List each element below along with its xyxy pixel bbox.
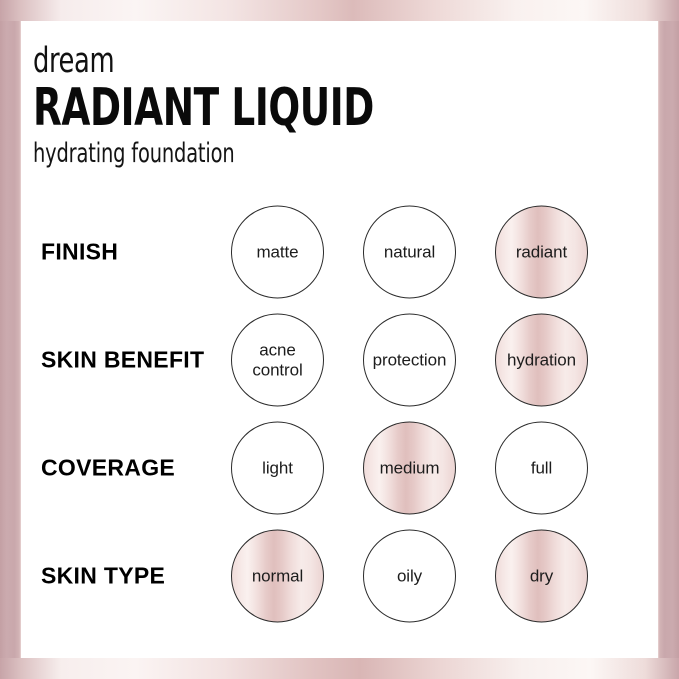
option-circle-selected[interactable]: dry bbox=[495, 530, 588, 623]
option-label: full bbox=[528, 458, 555, 478]
option-label: dry bbox=[527, 566, 556, 586]
option-circle[interactable]: matte bbox=[231, 206, 324, 299]
attribute-row-label: SKIN TYPE bbox=[41, 563, 165, 590]
frame-top-edge bbox=[0, 0, 679, 21]
product-subtitle: hydrating foundation bbox=[33, 140, 374, 167]
option-circle[interactable]: light bbox=[231, 422, 324, 515]
attribute-grid: FINISHmattenaturalradiantSKIN BENEFITacn… bbox=[21, 198, 658, 630]
option-label: protection bbox=[370, 350, 450, 370]
infographic-card: dream RADIANT LIQUID hydrating foundatio… bbox=[21, 21, 658, 658]
product-title-block: dream RADIANT LIQUID hydrating foundatio… bbox=[33, 44, 459, 167]
option-circle[interactable]: acne control bbox=[231, 314, 324, 407]
brand-line: dream bbox=[33, 44, 382, 79]
option-circle[interactable]: oily bbox=[363, 530, 456, 623]
option-circle[interactable]: full bbox=[495, 422, 588, 515]
attribute-row: SKIN TYPEnormaloilydry bbox=[21, 522, 658, 630]
attribute-option-group: normaloilydry bbox=[231, 530, 588, 623]
option-label: light bbox=[259, 458, 296, 478]
option-label: natural bbox=[381, 242, 438, 262]
option-label: matte bbox=[253, 242, 301, 262]
option-circle-selected[interactable]: radiant bbox=[495, 206, 588, 299]
attribute-row: SKIN BENEFITacne controlprotectionhydrat… bbox=[21, 306, 658, 414]
attribute-option-group: acne controlprotectionhydration bbox=[231, 314, 588, 407]
attribute-row-label: FINISH bbox=[41, 239, 118, 266]
option-circle[interactable]: protection bbox=[363, 314, 456, 407]
option-label: oily bbox=[394, 566, 425, 586]
option-label: hydration bbox=[504, 350, 579, 370]
option-label: acne control bbox=[249, 340, 305, 379]
attribute-row: FINISHmattenaturalradiant bbox=[21, 198, 658, 306]
attribute-option-group: mattenaturalradiant bbox=[231, 206, 588, 299]
option-circle-selected[interactable]: normal bbox=[231, 530, 324, 623]
product-name: RADIANT LIQUID bbox=[33, 81, 374, 135]
frame-bottom-edge bbox=[0, 658, 679, 679]
attribute-row: COVERAGElightmediumfull bbox=[21, 414, 658, 522]
product-infographic-frame: dream RADIANT LIQUID hydrating foundatio… bbox=[0, 0, 679, 679]
option-label: medium bbox=[377, 458, 443, 478]
attribute-option-group: lightmediumfull bbox=[231, 422, 588, 515]
option-circle-selected[interactable]: hydration bbox=[495, 314, 588, 407]
option-circle[interactable]: natural bbox=[363, 206, 456, 299]
attribute-row-label: COVERAGE bbox=[41, 455, 175, 482]
option-label: normal bbox=[249, 566, 306, 586]
option-label: radiant bbox=[513, 242, 570, 262]
option-circle-selected[interactable]: medium bbox=[363, 422, 456, 515]
attribute-row-label: SKIN BENEFIT bbox=[41, 347, 204, 374]
